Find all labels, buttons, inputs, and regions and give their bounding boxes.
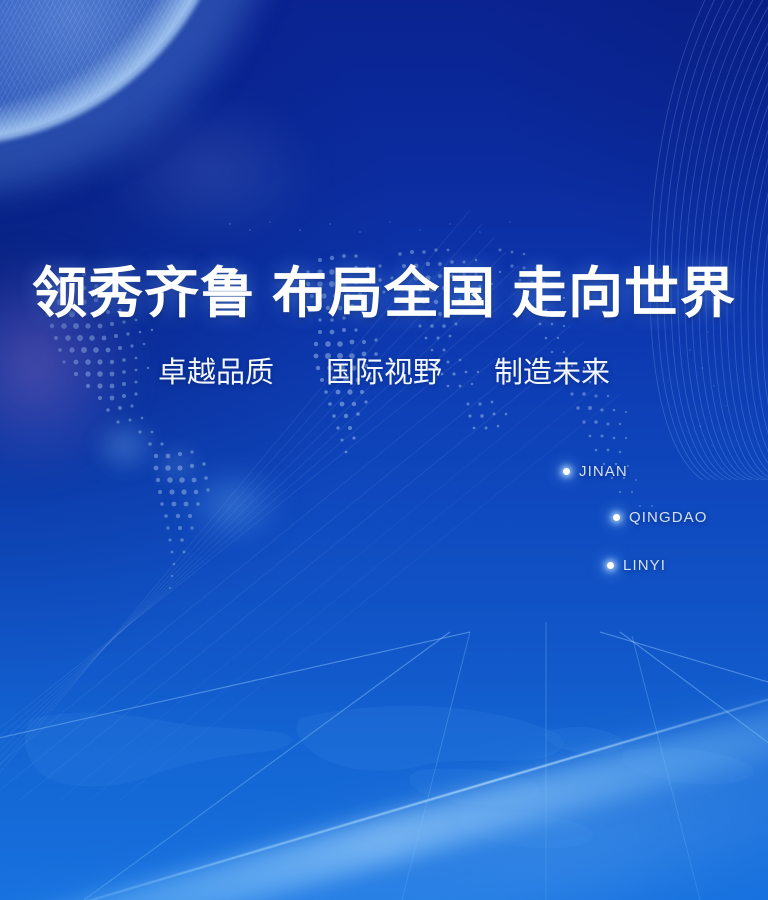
soft-glow-top (96, 95, 326, 245)
subtitle-segment-3: 制造未来 (494, 357, 610, 389)
hero-banner: 领秀齐鲁布局全国走向世界 卓越品质国际视野制造未来 JINAN QINGDAO … (0, 0, 768, 900)
headline-segment-1: 领秀齐鲁 (32, 263, 256, 324)
bokeh-glow-b (150, 440, 206, 490)
perspective-grid-icon (0, 570, 768, 900)
location-dot-icon (563, 468, 570, 475)
radiating-streak-lines (0, 120, 620, 800)
banner-copy-block: 领秀齐鲁布局全国走向世界 卓越品质国际视野制造未来 (0, 262, 768, 392)
globe-surface-texture (0, 0, 230, 140)
bokeh-glow-c (178, 462, 288, 548)
world-dot-map-icon (0, 150, 768, 670)
left-vignette-overlay (0, 0, 768, 900)
page-title: 领秀齐鲁布局全国走向世界 (0, 262, 768, 326)
light-beam-thin-line (0, 654, 768, 900)
city-marker-jinan[interactable]: JINAN (563, 463, 628, 480)
location-dot-icon (613, 514, 620, 521)
subtitle-segment-2: 国际视野 (326, 357, 442, 389)
headline-segment-2: 布局全国 (272, 263, 496, 324)
city-label-linyi: LINYI (623, 557, 666, 574)
headline-segment-3: 走向世界 (512, 263, 736, 324)
city-marker-layer: JINAN QINGDAO LINYI (0, 0, 768, 900)
page-subtitle: 卓越品质国际视野制造未来 (0, 354, 768, 392)
location-dot-icon (607, 562, 614, 569)
bottom-glow-overlay (0, 670, 768, 900)
arc-lines-icon (498, 0, 768, 480)
globe-atmosphere-glow (0, 0, 290, 200)
city-label-jinan: JINAN (579, 463, 628, 480)
city-marker-linyi[interactable]: LINYI (607, 557, 666, 574)
subtitle-segment-1: 卓越品质 (158, 357, 274, 389)
light-beam-icon (0, 651, 768, 900)
city-marker-qingdao[interactable]: QINGDAO (613, 509, 708, 526)
bokeh-glow-a (90, 415, 160, 477)
top-right-vignette-overlay (0, 0, 768, 900)
globe-rim-light (0, 0, 236, 146)
ground-plane-world-map (0, 600, 768, 900)
globe-icon (0, 0, 230, 140)
globe-sphere (0, 0, 230, 140)
light-beam-core (0, 658, 768, 900)
city-label-qingdao: QINGDAO (629, 509, 708, 526)
